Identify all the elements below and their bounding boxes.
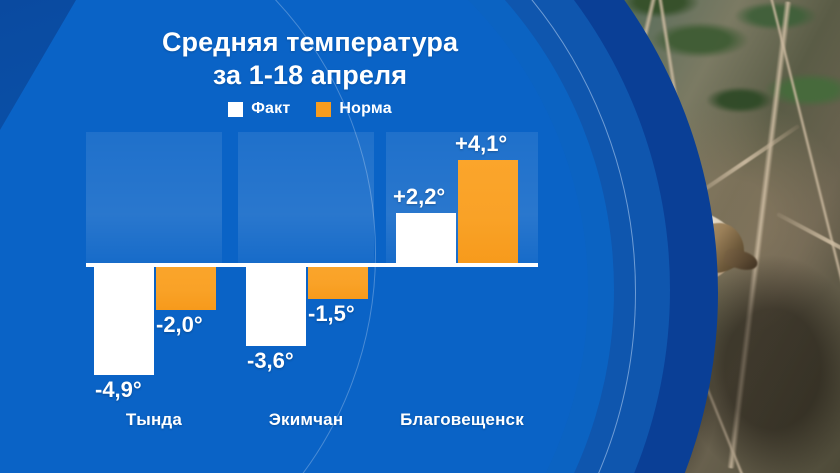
value-label-fact: +2,2°: [393, 184, 445, 210]
value-label-norm: -2,0°: [156, 312, 203, 338]
infographic-root: Средняя температура за 1-18 апреля Факт …: [0, 0, 840, 473]
title-line-1: Средняя температура: [60, 26, 560, 59]
legend-label-fact: Факт: [251, 100, 290, 118]
value-label-norm: -1,5°: [308, 301, 355, 327]
category-label: Тында: [86, 410, 222, 430]
bar-fact: [94, 265, 154, 375]
square-swatch-icon: [316, 102, 331, 117]
category-label: Экимчан: [238, 410, 374, 430]
bar-group-blagoveshchensk: +2,2° +4,1° Благовещенск: [386, 132, 538, 402]
title-line-2: за 1-18 апреля: [60, 59, 560, 92]
legend-item-fact: Факт: [228, 100, 290, 118]
bar-norm: [308, 265, 368, 299]
value-label-fact: -3,6°: [247, 348, 294, 374]
value-label-fact: -4,9°: [95, 377, 142, 403]
bar-fact: [246, 265, 306, 346]
bar-group-tynda: -4,9° -2,0° Тында: [86, 132, 222, 402]
legend-label-norm: Норма: [339, 100, 391, 118]
value-label-norm: +4,1°: [455, 131, 507, 157]
square-swatch-icon: [228, 102, 243, 117]
bar-chart: -4,9° -2,0° Тында -3,6° -1,5° Экимчан +2…: [86, 132, 538, 402]
group-panel-background: [86, 132, 222, 265]
zero-axis-line: [86, 263, 538, 267]
category-label: Благовещенск: [386, 410, 538, 430]
bar-norm: [458, 160, 518, 265]
group-panel-background: [238, 132, 374, 265]
chart-legend: Факт Норма: [60, 100, 560, 118]
bar-fact: [396, 213, 456, 265]
page-title: Средняя температура за 1-18 апреля: [60, 26, 560, 92]
bar-group-ekimchan: -3,6° -1,5° Экимчан: [238, 132, 374, 402]
bar-norm: [156, 265, 216, 310]
legend-item-norm: Норма: [316, 100, 391, 118]
